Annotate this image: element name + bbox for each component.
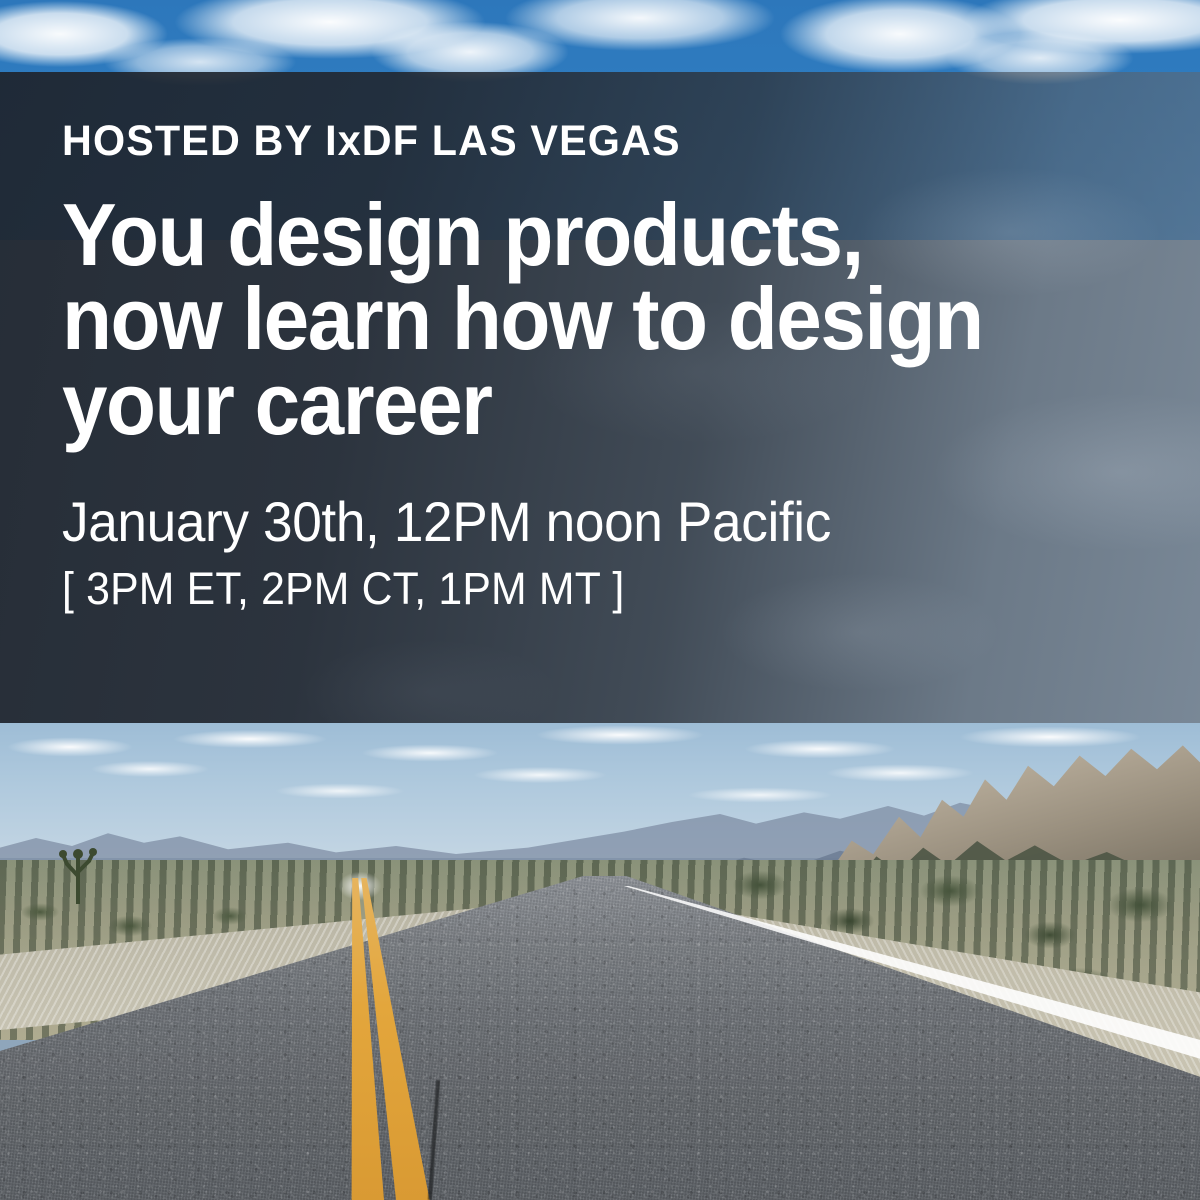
page-title: You design products, now learn how to de… — [62, 163, 1063, 446]
event-date-alternate-timezones: [ 3PM ET, 2PM CT, 1PM MT ] — [62, 550, 1084, 611]
overlay-content: HOSTED BY IxDF LAS VEGAS You design prod… — [62, 72, 1138, 611]
headline-line-3: your career — [62, 354, 491, 453]
road-vanishing-point — [330, 866, 390, 906]
event-date-primary: January 30th, 12PM noon Pacific — [62, 446, 1084, 550]
joshua-tree-icon — [58, 846, 98, 904]
text-overlay-band: HOSTED BY IxDF LAS VEGAS You design prod… — [0, 72, 1200, 723]
event-poster: HOSTED BY IxDF LAS VEGAS You design prod… — [0, 0, 1200, 1200]
host-eyebrow: HOSTED BY IxDF LAS VEGAS — [62, 72, 1095, 163]
